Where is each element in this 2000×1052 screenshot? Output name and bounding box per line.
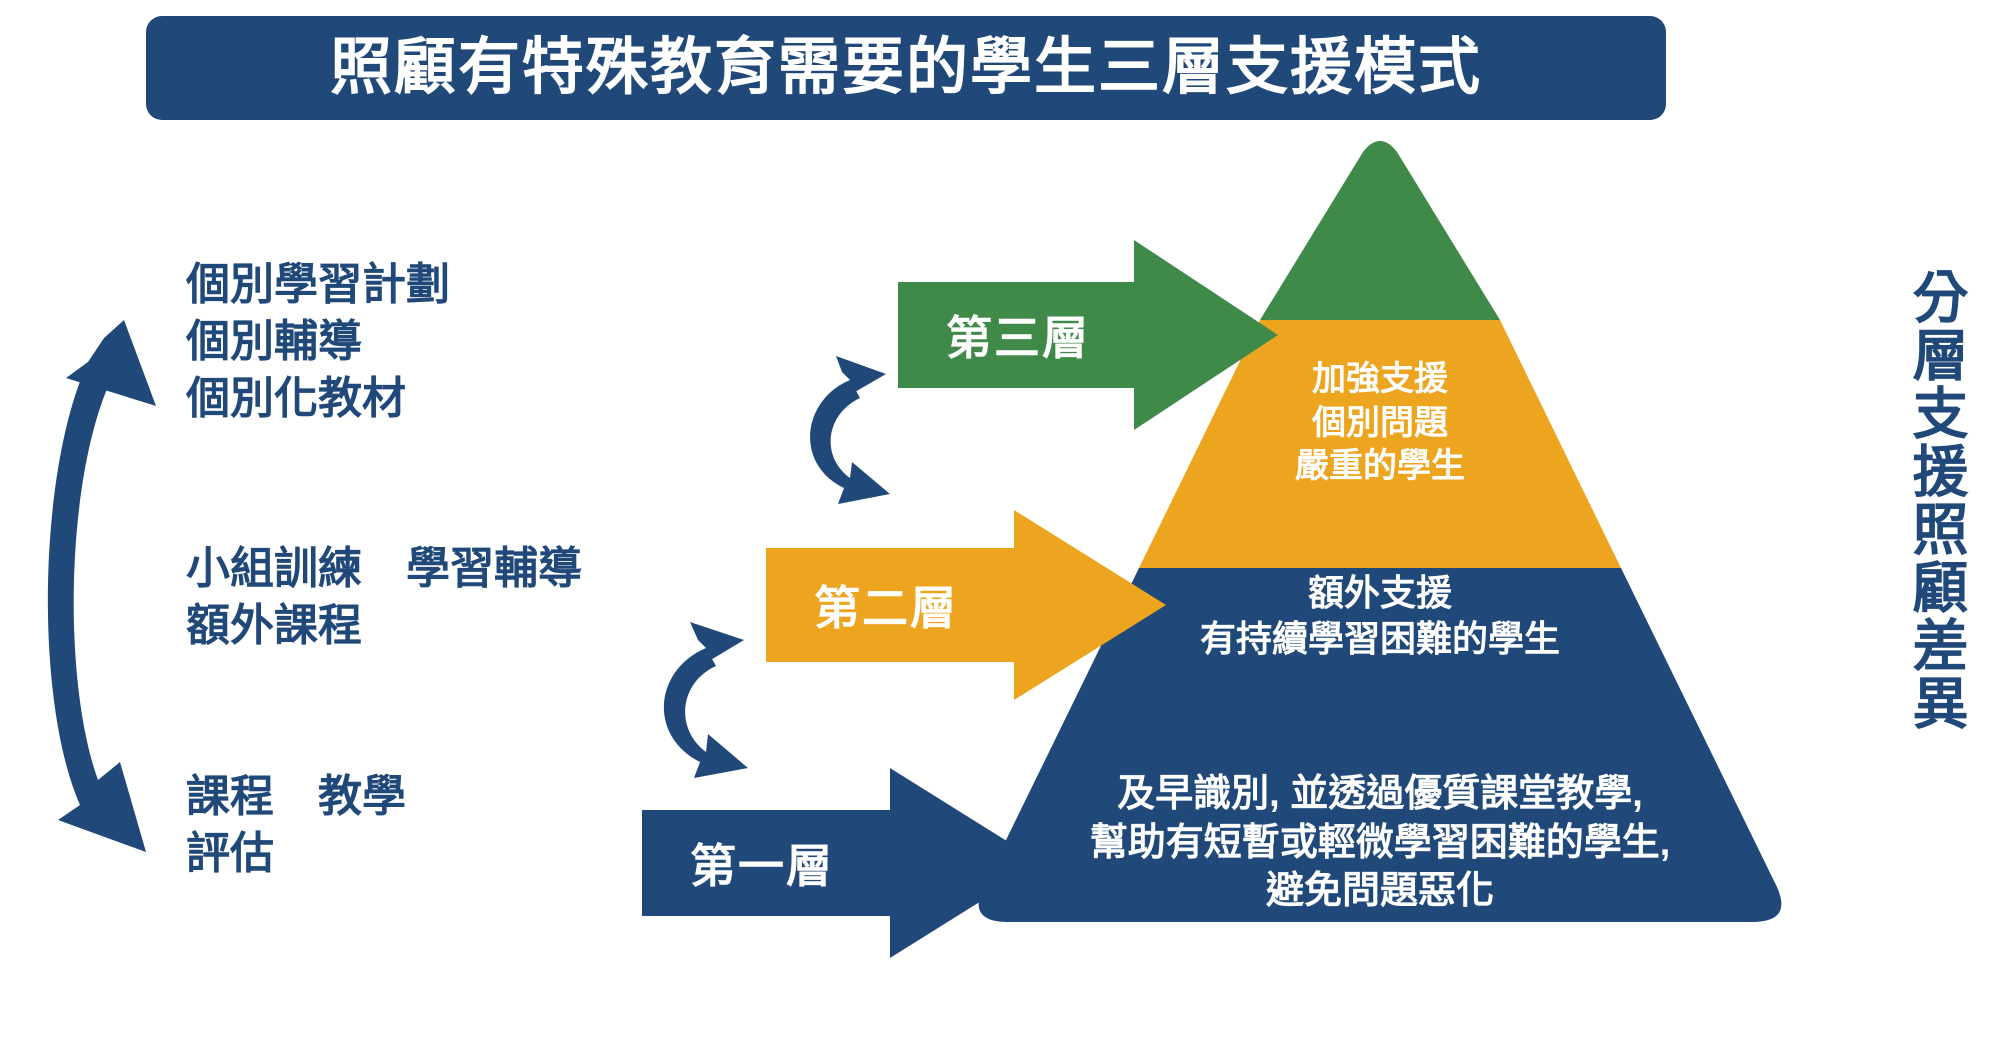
pyramid-tier1-text: 及早識別, 並透過優質課堂教學, 幫助有短暫或輕微學習困難的學生, 避免問題惡化 bbox=[920, 770, 1840, 916]
left-descriptor-tier1: 課程 教學 評估 bbox=[186, 768, 406, 882]
tier-arrow-tier3[interactable]: 第三層 bbox=[898, 240, 1278, 430]
title-banner: 照顧有特殊教育需要的學生三層支援模式 bbox=[146, 16, 1666, 120]
left-descriptor-tier2: 小組訓練 學習輔導 額外課程 bbox=[186, 540, 582, 654]
tier-arrow-tier3-label: 第三層 bbox=[946, 302, 1090, 368]
tier-arrow-tier1[interactable]: 第一層 bbox=[642, 768, 1042, 958]
left-double-headed-arrow bbox=[28, 300, 188, 870]
tier-arrow-tier2[interactable]: 第二層 bbox=[766, 510, 1166, 700]
tier-arrow-tier1-label: 第一層 bbox=[690, 830, 834, 896]
right-vertical-caption: 分層支援照顧差異 bbox=[1888, 268, 1968, 732]
infographic-canvas: 照顧有特殊教育需要的學生三層支援模式 個別學習計劃 個別輔導 個別化教材 小組訓… bbox=[0, 0, 2000, 1052]
page-title: 照顧有特殊教育需要的學生三層支援模式 bbox=[330, 37, 1482, 99]
left-descriptor-tier3: 個別學習計劃 個別輔導 個別化教材 bbox=[186, 256, 450, 428]
tier-arrow-tier2-label: 第二層 bbox=[814, 572, 958, 638]
